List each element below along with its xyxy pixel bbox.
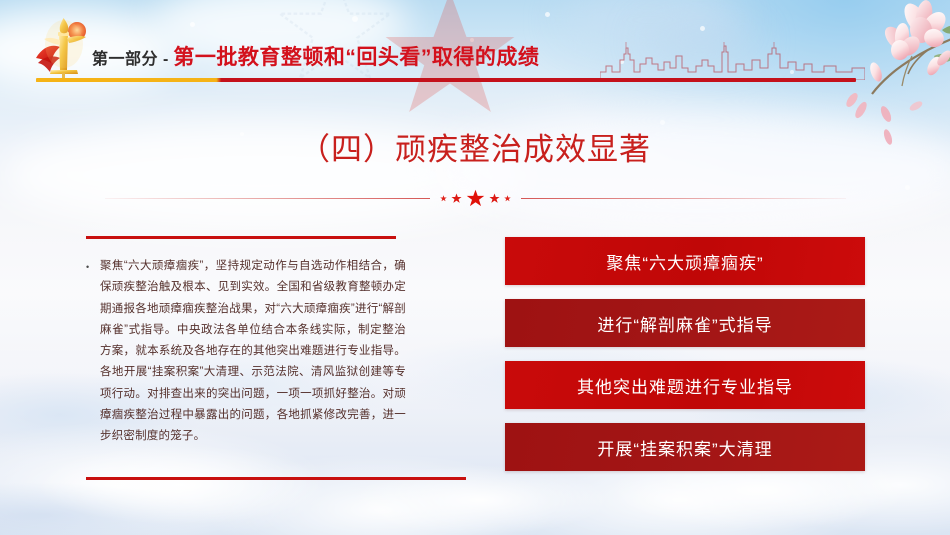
highlight-box-1[interactable]: 聚焦“六大顽瘴痼疾” xyxy=(505,237,865,285)
highlight-box-1-label: 聚焦“六大顽瘴痼疾” xyxy=(606,249,763,274)
highlight-box-2[interactable]: 进行“解剖麻雀”式指导 xyxy=(505,299,865,347)
left-panel-bottom-rule xyxy=(86,477,466,480)
left-panel-top-rule xyxy=(86,236,396,239)
highlight-box-3-label: 其他突出难题进行专业指导 xyxy=(577,373,793,398)
content-body-text: 聚焦“六大顽瘴痼疾”，坚持规定动作与自选动作相结合，确保顽疾整治触及根本、见到实… xyxy=(100,256,406,447)
content-bullet-item: • 聚焦“六大顽瘴痼疾”，坚持规定动作与自选动作相结合，确保顽疾整治触及根本、见… xyxy=(86,256,406,447)
star-divider xyxy=(0,186,950,210)
highlight-box-3[interactable]: 其他突出难题进行专业指导 xyxy=(505,361,865,409)
star-small-left-icon xyxy=(440,195,447,202)
highlight-box-4-label: 开展“挂案积案”大清理 xyxy=(597,435,772,460)
magnolia-branch-icon xyxy=(816,0,950,124)
highlight-box-4[interactable]: 开展“挂案积案”大清理 xyxy=(505,423,865,471)
bullet-marker: • xyxy=(86,256,100,447)
header-title-group: 第一部分 - 第一批教育整顿和“回头看”取得的成绩 xyxy=(92,41,539,71)
header-title-text: 第一批教育整顿和“回头看”取得的成绩 xyxy=(173,41,539,71)
five-stars-divider-icon xyxy=(430,189,521,208)
page-title: （四）顽疾整治成效显著 xyxy=(0,124,950,169)
header-section-label: 第一部分 xyxy=(92,45,158,69)
star-medium-right-icon xyxy=(489,193,500,204)
torch-emblem-icon xyxy=(33,14,95,80)
slide-header: 第一部分 - 第一批教育整顿和“回头看”取得的成绩 xyxy=(0,0,950,100)
star-large-center-icon xyxy=(466,189,485,208)
header-separator: - xyxy=(163,51,168,69)
header-rule xyxy=(36,78,856,82)
falling-petal-icon xyxy=(852,100,870,120)
presentation-slide: 第一部分 - 第一批教育整顿和“回头看”取得的成绩 （四）顽疾整治成效显著 xyxy=(0,0,950,535)
highlight-box-list: 聚焦“六大顽瘴痼疾” 进行“解剖麻雀”式指导 其他突出难题进行专业指导 开展“挂… xyxy=(505,237,865,485)
star-small-right-icon xyxy=(504,195,511,202)
star-medium-left-icon xyxy=(451,193,462,204)
divider-line-right xyxy=(521,198,846,199)
divider-line-left xyxy=(105,198,430,199)
highlight-box-2-label: 进行“解剖麻雀”式指导 xyxy=(597,311,772,336)
